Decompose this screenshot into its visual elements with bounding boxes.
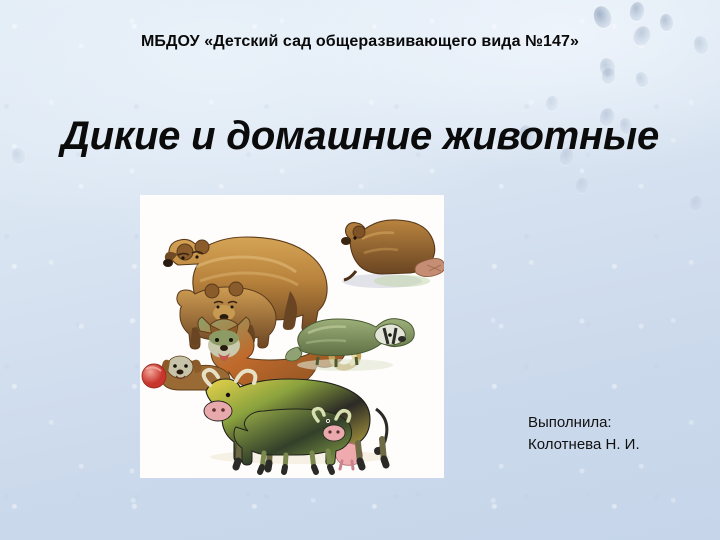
snow-track-icon <box>591 4 614 30</box>
snow-track-icon <box>545 95 559 111</box>
ball-figure <box>142 364 166 388</box>
snow-track-icon <box>598 57 617 79</box>
page-title: Дикие и домашние животные <box>0 114 720 159</box>
animals-illustration <box>140 195 444 478</box>
snow-track-icon <box>659 13 674 31</box>
author-credit-label: Выполнила: <box>528 412 640 434</box>
slide: МБДОУ «Детский сад общеразвивающего вида… <box>0 0 720 540</box>
author-credit: Выполнила: Колотнева Н. И. <box>528 412 640 456</box>
snow-track-icon <box>634 70 650 88</box>
organization-subtitle: МБДОУ «Детский сад общеразвивающего вида… <box>0 33 720 51</box>
snow-track-icon <box>601 67 616 85</box>
author-credit-name: Колотнева Н. И. <box>528 434 640 456</box>
animals-illustration-svg <box>140 195 444 478</box>
snow-track-icon <box>689 195 704 212</box>
snow-track-icon <box>628 1 645 22</box>
snow-track-icon <box>575 177 589 194</box>
